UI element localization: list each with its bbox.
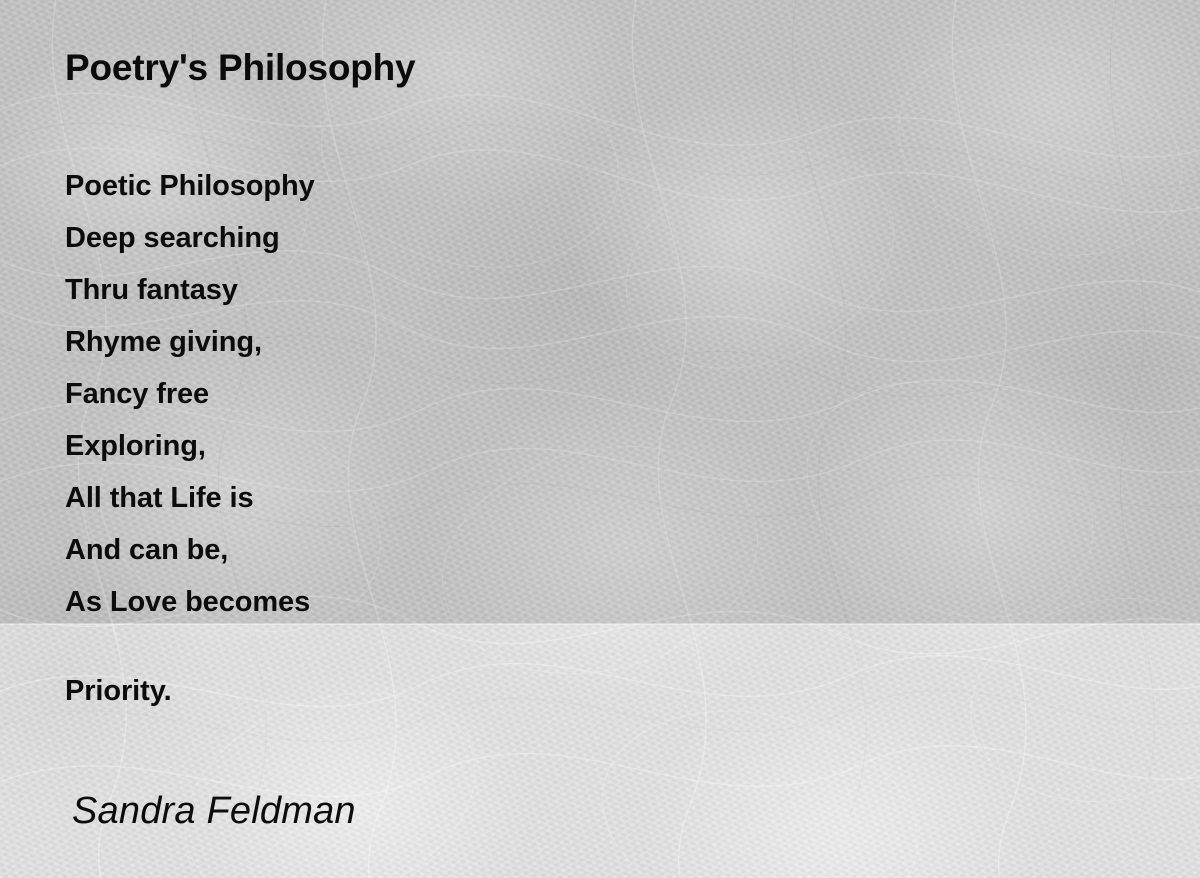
poem-line: All that Life is xyxy=(65,472,765,524)
poem-line: Fancy free xyxy=(65,368,765,420)
poem-line: Poetic Philosophy xyxy=(65,160,765,212)
poem-closing-line: Priority. xyxy=(65,675,172,708)
poem-line: Exploring, xyxy=(65,420,765,472)
poem-author-signature: Sandra Feldman xyxy=(72,790,356,833)
poem-line: As Love becomes xyxy=(65,576,765,628)
poem-line: And can be, xyxy=(65,524,765,576)
poem-line: Deep searching xyxy=(65,212,765,264)
poem-title: Poetry's Philosophy xyxy=(65,47,415,89)
poem-line: Rhyme giving, xyxy=(65,316,765,368)
poem-body: Poetic Philosophy Deep searching Thru fa… xyxy=(65,160,765,628)
poem-line: Thru fantasy xyxy=(65,264,765,316)
poem-content: Poetry's Philosophy Poetic Philosophy De… xyxy=(0,0,1200,878)
poem-card: Poetry's Philosophy Poetic Philosophy De… xyxy=(0,0,1200,878)
